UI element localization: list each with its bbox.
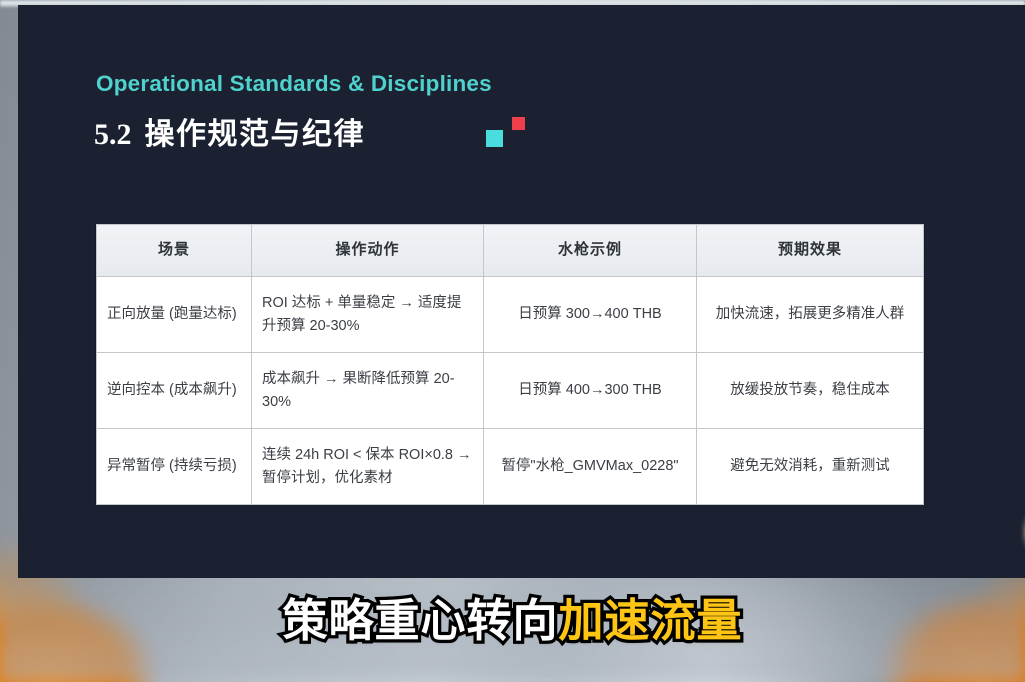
cell-effect: 加快流速，拓展更多精准人群: [697, 277, 924, 353]
cell-example: 暂停"水枪_GMVMax_0228": [484, 429, 697, 505]
cell-example: 日预算 300→400 THB: [484, 277, 697, 353]
cell-action: 成本飙升 → 果断降低预算 20-30%: [252, 353, 484, 429]
cell-action: ROI 达标 + 单量稳定 → 适度提升预算 20-30%: [252, 277, 484, 353]
cell-scene: 异常暂停 (持续亏损): [97, 429, 252, 505]
cell-effect: 放缓投放节奏，稳住成本: [697, 353, 924, 429]
video-frame: Operational Standards & Disciplines 5.2操…: [0, 0, 1025, 682]
table-row: 异常暂停 (持续亏损) 连续 24h ROI < 保本 ROI×0.8 → 暂停…: [97, 429, 924, 505]
table-row: 正向放量 (跑量达标) ROI 达标 + 单量稳定 → 适度提升预算 20-30…: [97, 277, 924, 353]
column-header-effect: 预期效果: [697, 225, 924, 277]
slide-eyebrow: Operational Standards & Disciplines: [96, 71, 492, 97]
cell-action: 连续 24h ROI < 保本 ROI×0.8 → 暂停计划，优化素材: [252, 429, 484, 505]
rules-table: 场景 操作动作 水枪示例 预期效果 正向放量 (跑量达标) ROI 达标 + 单…: [96, 224, 924, 505]
cell-example: 日预算 400→300 THB: [484, 353, 697, 429]
cell-scene: 逆向控本 (成本飙升): [97, 353, 252, 429]
caption-highlight-text: 加速流量: [559, 594, 743, 647]
section-number: 5.2: [94, 118, 132, 151]
column-header-example: 水枪示例: [484, 225, 697, 277]
presenter-silhouette: [1021, 508, 1025, 560]
decorative-square-red: [512, 117, 525, 130]
table-header-row: 场景 操作动作 水枪示例 预期效果: [97, 225, 924, 277]
column-header-action: 操作动作: [252, 225, 484, 277]
cell-scene: 正向放量 (跑量达标): [97, 277, 252, 353]
rules-table-wrapper: 场景 操作动作 水枪示例 预期效果 正向放量 (跑量达标) ROI 达标 + 单…: [96, 224, 923, 505]
subtitle-caption: 策略重心转向加速流量: [0, 598, 1025, 643]
cell-effect: 避免无效消耗，重新测试: [697, 429, 924, 505]
table-row: 逆向控本 (成本飙升) 成本飙升 → 果断降低预算 20-30% 日预算 400…: [97, 353, 924, 429]
page-title: 5.2操作规范与纪律: [94, 109, 365, 153]
section-title-text: 操作规范与纪律: [145, 118, 366, 151]
decorative-square-teal: [486, 130, 503, 147]
slide-panel: Operational Standards & Disciplines 5.2操…: [18, 5, 1025, 578]
caption-white-text: 策略重心转向: [282, 594, 558, 647]
column-header-scene: 场景: [97, 225, 252, 277]
